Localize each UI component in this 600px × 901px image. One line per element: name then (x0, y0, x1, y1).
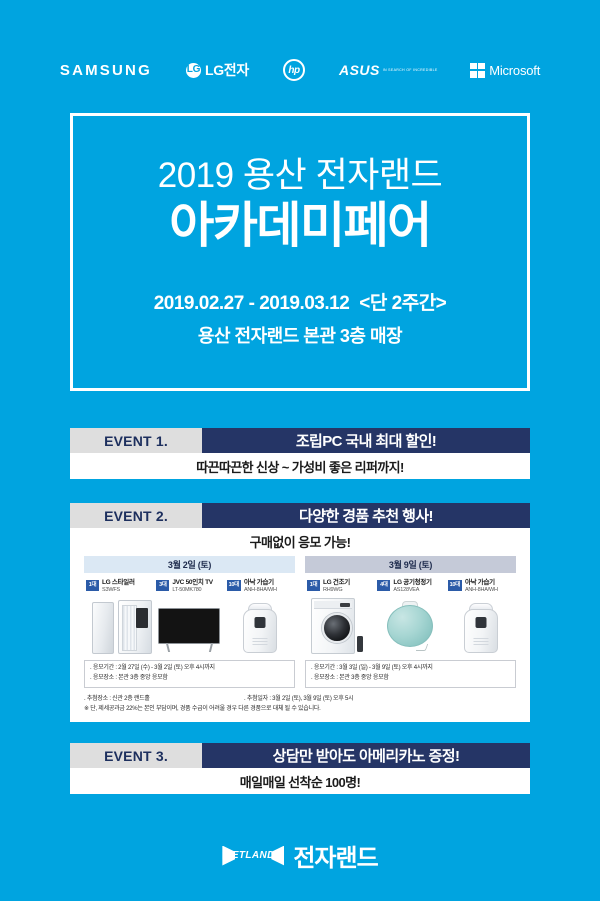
event-panel-3: EVENT 3. 상담만 받아도 아메리카노 증정! 매일매일 선착순 100명… (70, 743, 530, 794)
prize-text: 아낙 가습기 ANH-8HA/WH (465, 579, 498, 594)
prize-model: LT-50MK780 (172, 587, 212, 594)
prize-item: 10대 아낙 가습기 ANH-8HA/WH (225, 579, 295, 654)
prize-name: 아낙 가습기 (244, 579, 277, 587)
footer-brand-name: 전자랜드 (293, 838, 377, 873)
prize-model: ANH-8HA/WH (465, 587, 498, 594)
event-3-subtitle: 매일매일 선착순 100명! (70, 768, 530, 794)
prize-name: LG 건조기 (323, 579, 350, 587)
prize-column-week2: 3월 9일 (토) 1대 LG 건조기 RH9WG (305, 556, 516, 654)
quantity-badge: 1대 (307, 580, 320, 591)
prize-image-tv (154, 598, 224, 654)
prize-name: LG 공기청정기 (393, 579, 431, 587)
entry-place-week1: . 응모장소 : 본관 3층 중앙 응모함 (90, 674, 289, 684)
prize-text: 아낙 가습기 ANH-8HA/WH (244, 579, 277, 594)
entry-period-week1: . 응모기간 : 2월 27일 (수) - 3월 2일 (토) 오후 4시까지 (90, 664, 289, 674)
brand-lg: LG LG전자 (186, 59, 249, 81)
poster-root: SAMSUNG LG LG전자 hp ASUS IN SEARCH OF INC… (0, 0, 600, 901)
prize-name: 아낙 가습기 (465, 579, 498, 587)
prize-image-dryer (305, 598, 375, 654)
microsoft-logo-icon (470, 63, 485, 78)
event-1-header: EVENT 1. 조립PC 국내 최대 할인! (70, 428, 530, 453)
draw-date: . 추첨일자 : 3월 2일 (토), 3월 9일 (토) 오후 5시 (244, 694, 353, 704)
prize-text: LG 건조기 RH9WG (323, 579, 350, 594)
prize-item: 1대 LG 건조기 RH9WG (305, 579, 375, 654)
lg-logo-icon: LG (186, 63, 201, 78)
entry-period-week2: . 응모기간 : 3월 3일 (일) - 3월 9일 (토) 오후 4시까지 (311, 664, 510, 674)
hp-logo-icon: hp (283, 59, 305, 81)
event-panel-1: EVENT 1. 조립PC 국내 최대 할인! 따끈따끈한 신상 ~ 가성비 좋… (70, 428, 530, 479)
hero-banner: 2019 용산 전자랜드 아카데미페어 2019.02.27 - 2019.03… (70, 113, 530, 391)
humidifier-product-icon (243, 603, 277, 653)
prize-label-row: 3대 JVC 50인치 TV LT-50MK780 (154, 579, 212, 594)
tv-product-icon (158, 608, 220, 652)
prize-label-row: 10대 아낙 가습기 ANH-8HA/WH (446, 579, 498, 594)
prize-label-row: 10대 아낙 가습기 ANH-8HA/WH (225, 579, 277, 594)
prize-columns: 3월 2일 (토) 1대 LG 스타일러 S3WFS (70, 554, 530, 654)
quantity-badge: 1대 (86, 580, 99, 591)
entry-info-row: . 응모기간 : 2월 27일 (수) - 3월 2일 (토) 오후 4시까지 … (70, 654, 530, 688)
entry-info-week2: . 응모기간 : 3월 3일 (일) - 3월 9일 (토) 오후 4시까지 .… (305, 660, 516, 688)
hero-title-line2: 아카데미페어 (169, 198, 430, 254)
entry-place-week2: . 응모장소 : 본관 3층 중앙 응모함 (311, 674, 510, 684)
air-purifier-product-icon (387, 601, 433, 651)
prize-text: LG 스타일러 S3WFS (102, 579, 135, 594)
prize-name: LG 스타일러 (102, 579, 135, 587)
event-2-footnotes: . 추첨장소 : 신관 2층 랜드홀 . 추첨일자 : 3월 2일 (토), 3… (70, 688, 530, 714)
prize-item: 10대 아낙 가습기 ANH-8HA/WH (446, 579, 516, 654)
quantity-badge: 10대 (448, 580, 462, 591)
quantity-badge: 4대 (377, 580, 390, 591)
prize-disclaimer: ※ 단, 제세공과금 22%는 본인 부담이며, 경품 수급이 어려울 경우 다… (84, 704, 516, 714)
brand-hp: hp (283, 59, 305, 81)
dryer-product-icon (311, 598, 363, 654)
event-2-subtitle: 구매없이 응모 가능! (70, 528, 530, 554)
event-1-tag: EVENT 1. (70, 428, 202, 453)
prize-image-air-purifier (375, 598, 445, 654)
prize-item-list-week1: 1대 LG 스타일러 S3WFS (84, 579, 295, 654)
brand-samsung: SAMSUNG (60, 59, 152, 81)
asus-tagline: IN SEARCH OF INCREDIBLE (383, 69, 438, 72)
brand-asus: ASUS IN SEARCH OF INCREDIBLE (339, 59, 436, 81)
hero-dates-value: 2019.02.27 - 2019.03.12 (154, 293, 350, 314)
draw-info-row: . 추첨장소 : 신관 2층 랜드홀 . 추첨일자 : 3월 2일 (토), 3… (84, 694, 516, 704)
brand-logo-strip: SAMSUNG LG LG전자 hp ASUS IN SEARCH OF INC… (0, 52, 600, 88)
event-3-tag: EVENT 3. (70, 743, 202, 768)
event-panel-2: EVENT 2. 다양한 경품 추천 행사! 구매없이 응모 가능! 3월 2일… (70, 503, 530, 722)
etland-mark-text: ETLAND (232, 850, 275, 861)
styler-product-icon (92, 600, 154, 654)
footer-logo: ETLAND 전자랜드 (0, 838, 600, 873)
hero-title-line1: 2019 용산 전자랜드 (158, 156, 443, 196)
event-1-subtitle: 따끈따끈한 신상 ~ 가성비 좋은 리퍼까지! (70, 453, 530, 479)
event-2-tag: EVENT 2. (70, 503, 202, 528)
quantity-badge: 10대 (227, 580, 241, 591)
brand-microsoft: Microsoft (470, 59, 540, 81)
prize-item: 4대 LG 공기청정기 AS128VEA (375, 579, 445, 654)
prize-item-list-week2: 1대 LG 건조기 RH9WG (305, 579, 516, 654)
prize-text: JVC 50인치 TV LT-50MK780 (172, 579, 212, 594)
prize-image-humidifier (225, 598, 295, 654)
microsoft-wordmark: Microsoft (489, 63, 540, 78)
prize-item: 3대 JVC 50인치 TV LT-50MK780 (154, 579, 224, 654)
asus-wordmark: ASUS (339, 63, 380, 77)
prize-label-row: 4대 LG 공기청정기 AS128VEA (375, 579, 431, 594)
prize-model: ANH-8HA/WH (244, 587, 277, 594)
prize-column-week1: 3월 2일 (토) 1대 LG 스타일러 S3WFS (84, 556, 295, 654)
prize-text: LG 공기청정기 AS128VEA (393, 579, 431, 594)
prize-date-week1: 3월 2일 (토) (84, 556, 295, 573)
prize-name: JVC 50인치 TV (172, 579, 212, 587)
prize-image-styler (84, 598, 154, 654)
prize-image-humidifier (446, 598, 516, 654)
prize-model: AS128VEA (393, 587, 431, 594)
hero-date-range: 2019.02.27 - 2019.03.12<단 2주간> (154, 288, 447, 315)
humidifier-product-icon (464, 603, 498, 653)
quantity-badge: 3대 (156, 580, 169, 591)
prize-label-row: 1대 LG 스타일러 S3WFS (84, 579, 135, 594)
hero-venue: 용산 전자랜드 본관 3층 매장 (198, 322, 402, 348)
event-2-title: 다양한 경품 추천 행사! (202, 503, 530, 528)
entry-info-week1: . 응모기간 : 2월 27일 (수) - 3월 2일 (토) 오후 4시까지 … (84, 660, 295, 688)
prize-label-row: 1대 LG 건조기 RH9WG (305, 579, 350, 594)
etland-logo-icon: ETLAND (222, 846, 284, 866)
prize-model: S3WFS (102, 587, 135, 594)
hero-dates-note: <단 2주간> (359, 293, 446, 314)
prize-date-week2: 3월 9일 (토) (305, 556, 516, 573)
samsung-wordmark: SAMSUNG (60, 62, 152, 79)
prize-item: 1대 LG 스타일러 S3WFS (84, 579, 154, 654)
prize-model: RH9WG (323, 587, 350, 594)
lg-wordmark: LG전자 (205, 60, 249, 80)
event-3-title: 상담만 받아도 아메리카노 증정! (202, 743, 530, 768)
event-2-header: EVENT 2. 다양한 경품 추천 행사! (70, 503, 530, 528)
event-3-header: EVENT 3. 상담만 받아도 아메리카노 증정! (70, 743, 530, 768)
draw-place: . 추첨장소 : 신관 2층 랜드홀 (84, 694, 244, 704)
event-1-title: 조립PC 국내 최대 할인! (202, 428, 530, 453)
